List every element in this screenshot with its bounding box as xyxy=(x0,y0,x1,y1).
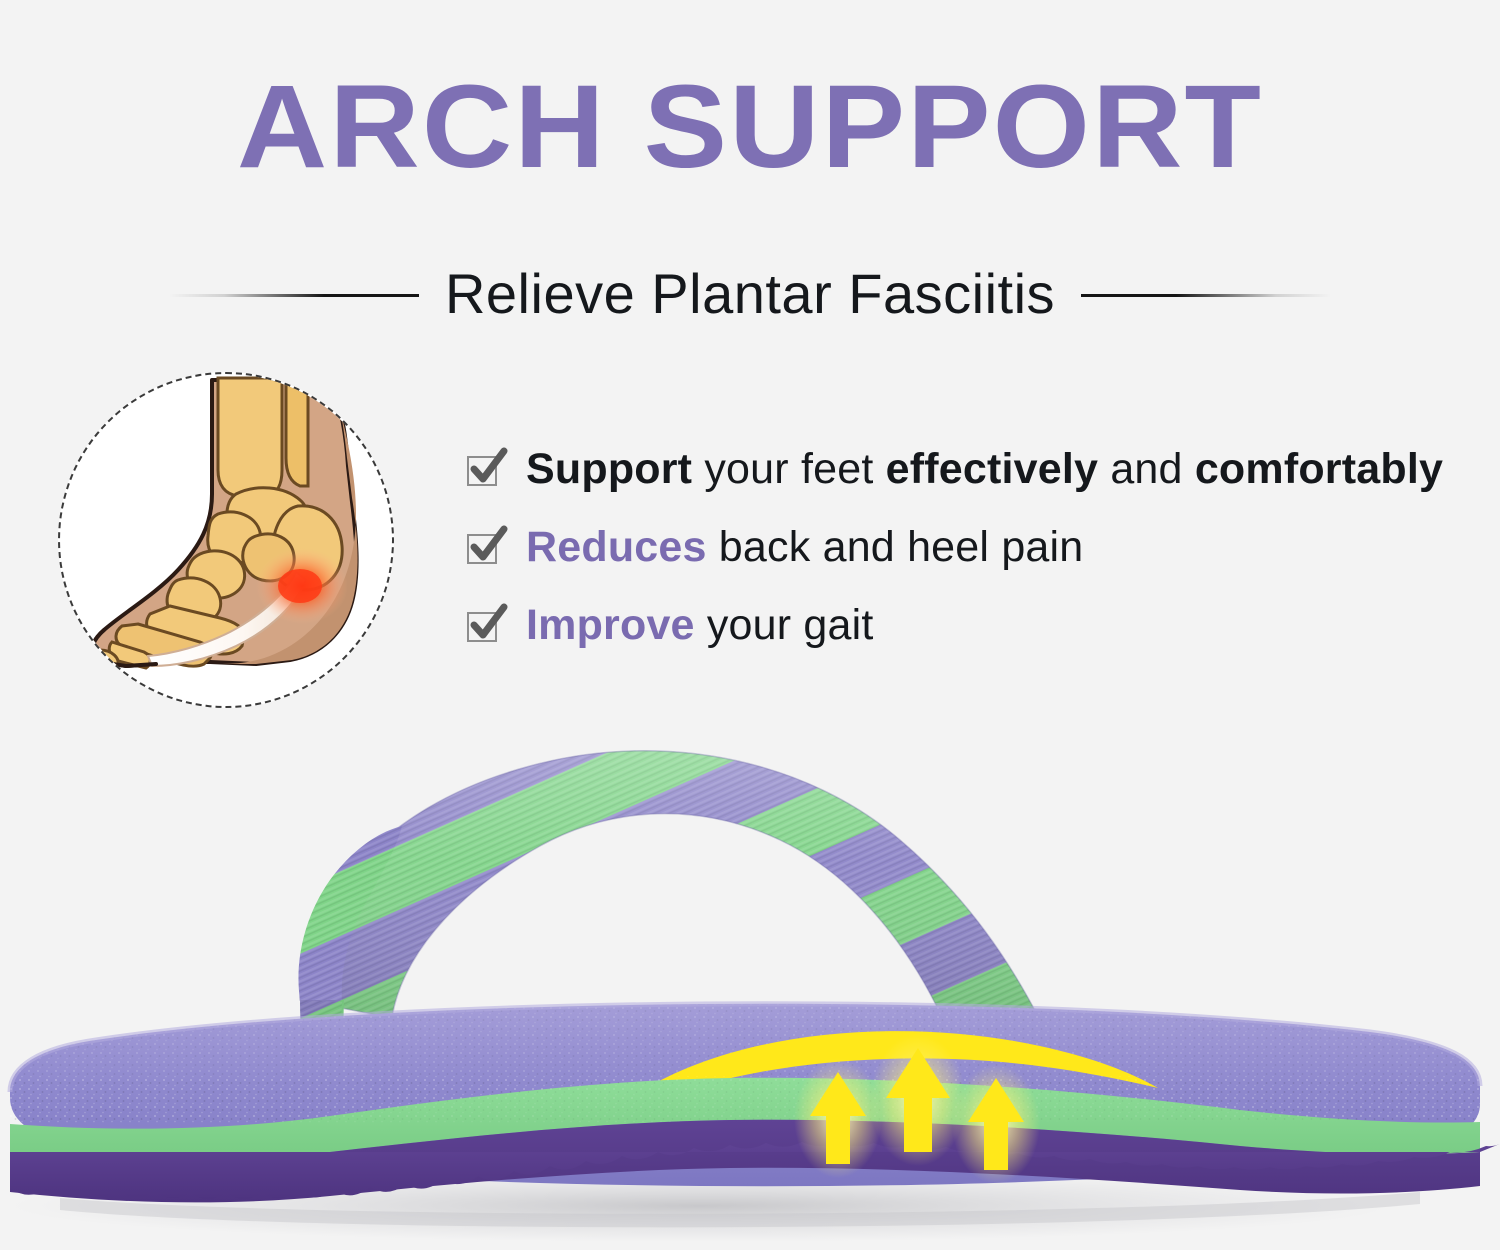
divider-rule-right xyxy=(1081,294,1331,297)
product-feature-page: ARCH SUPPORT Relieve Plantar Fasciitis xyxy=(0,0,1500,1250)
list-item: Reduces back and heel pain xyxy=(466,508,1476,586)
subtitle-row: Relieve Plantar Fasciitis xyxy=(140,258,1360,328)
benefits-list: Support your feet effectively and comfor… xyxy=(466,430,1476,664)
checkbox-checked-icon[interactable] xyxy=(466,530,500,564)
foot-anatomy-illustration xyxy=(58,372,394,708)
page-title: ARCH SUPPORT xyxy=(0,68,1500,186)
divider-rule-left xyxy=(169,294,419,297)
product-image-flip-flop xyxy=(0,700,1500,1250)
checkbox-checked-icon[interactable] xyxy=(466,452,500,486)
benefit-text: Improve your gait xyxy=(526,601,874,650)
page-subtitle: Relieve Plantar Fasciitis xyxy=(445,261,1055,326)
benefit-text: Reduces back and heel pain xyxy=(526,523,1083,572)
list-item: Support your feet effectively and comfor… xyxy=(466,430,1476,508)
list-item: Improve your gait xyxy=(466,586,1476,664)
checkbox-checked-icon[interactable] xyxy=(466,608,500,642)
benefit-text: Support your feet effectively and comfor… xyxy=(526,445,1443,494)
